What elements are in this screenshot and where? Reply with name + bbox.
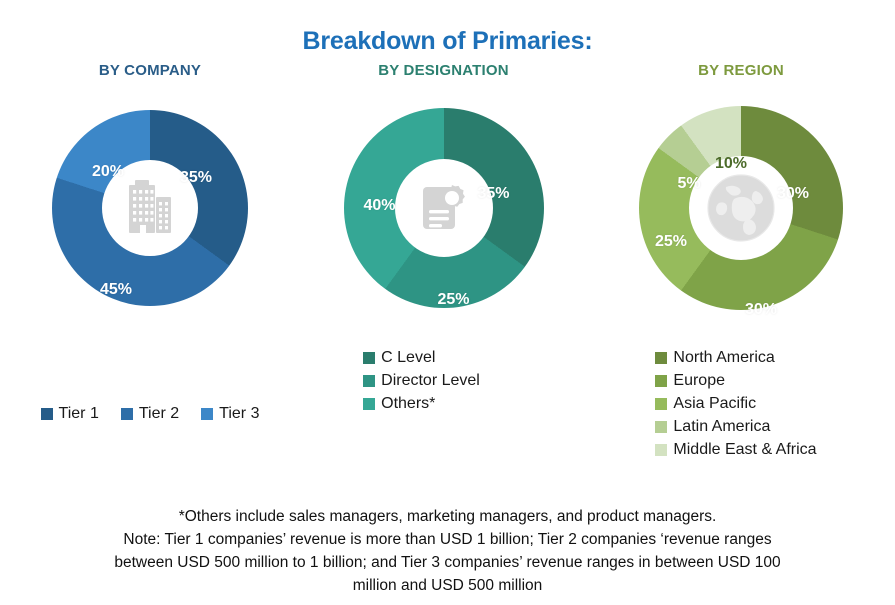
chart-subtitle-by-company: BY COMPANY [99, 60, 201, 82]
slice-value-others: 40% [363, 197, 395, 215]
legend-swatch-others [363, 398, 375, 410]
legend-swatch-tier-1 [41, 408, 53, 420]
slice-value-c-level: 35% [477, 185, 509, 203]
legend-label-north-america: North America [673, 346, 774, 369]
legend-item-c-level[interactable]: C Level [363, 346, 480, 369]
slice-value-latin-america: 5% [677, 175, 700, 193]
chart-panel-by-region: BY REGION [587, 60, 895, 480]
charts-row: BY COMPANY [0, 60, 895, 480]
slice-value-tier-1: 35% [180, 169, 212, 187]
footnote-line-2: Note: Tier 1 companies’ revenue is more … [0, 528, 895, 551]
legend-swatch-latin-america [655, 421, 667, 433]
slice-value-north-america: 30% [777, 185, 809, 203]
legend-label-tier-3: Tier 3 [219, 402, 259, 425]
legend-item-tier-2[interactable]: Tier 2 [121, 402, 179, 425]
legend-swatch-europe [655, 375, 667, 387]
legend-swatch-tier-2 [121, 408, 133, 420]
legend-swatch-director-level [363, 375, 375, 387]
legend-label-others: Others* [381, 392, 435, 415]
legend-by-designation: C Level Director Level Others* [363, 346, 480, 415]
legend-label-director-level: Director Level [381, 369, 480, 392]
legend-by-company: Tier 1 Tier 2 Tier 3 [41, 402, 260, 425]
donut-chart-by-designation: 35% 25% 40% [344, 108, 544, 308]
legend-item-latin-america[interactable]: Latin America [655, 415, 816, 438]
legend-label-latin-america: Latin America [673, 415, 770, 438]
slice-value-director-level: 25% [437, 291, 469, 309]
legend-by-region: North America Europe Asia Pacific Latin … [655, 346, 816, 461]
legend-item-middle-east-africa[interactable]: Middle East & Africa [655, 438, 816, 461]
slice-value-tier-2: 45% [100, 281, 132, 299]
legend-item-europe[interactable]: Europe [655, 369, 816, 392]
certificate-document-icon [417, 180, 471, 236]
legend-item-asia-pacific[interactable]: Asia Pacific [655, 392, 816, 415]
legend-label-middle-east-africa: Middle East & Africa [673, 438, 816, 461]
legend-label-asia-pacific: Asia Pacific [673, 392, 756, 415]
slice-value-europe: 30% [745, 301, 777, 319]
slice-value-asia-pacific: 25% [655, 233, 687, 251]
footnotes: *Others include sales managers, marketin… [0, 505, 895, 597]
donut-chart-by-region: 30% 30% 25% 5% 10% [639, 106, 843, 310]
chart-subtitle-by-region: BY REGION [698, 60, 784, 82]
office-buildings-icon [125, 179, 175, 237]
chart-subtitle-by-designation: BY DESIGNATION [378, 60, 509, 82]
chart-panel-by-designation: BY DESIGNATION [300, 60, 587, 480]
slice-value-tier-3: 20% [92, 163, 124, 181]
legend-item-director-level[interactable]: Director Level [363, 369, 480, 392]
legend-item-tier-3[interactable]: Tier 3 [201, 402, 259, 425]
page-title: Breakdown of Primaries: [0, 27, 895, 56]
legend-label-c-level: C Level [381, 346, 435, 369]
donut-ring-by-region [639, 106, 843, 310]
donut-ring-by-company [52, 110, 248, 306]
donut-chart-by-company: 35% 45% 20% [52, 110, 248, 306]
legend-label-tier-1: Tier 1 [59, 402, 99, 425]
legend-label-tier-2: Tier 2 [139, 402, 179, 425]
legend-swatch-asia-pacific [655, 398, 667, 410]
legend-swatch-north-america [655, 352, 667, 364]
legend-swatch-middle-east-africa [655, 444, 667, 456]
legend-item-north-america[interactable]: North America [655, 346, 816, 369]
footnote-line-3: between USD 500 million to 1 billion; an… [0, 551, 895, 574]
infographic-page: Breakdown of Primaries: BY COMPANY [0, 0, 895, 605]
legend-swatch-c-level [363, 352, 375, 364]
legend-item-tier-1[interactable]: Tier 1 [41, 402, 99, 425]
legend-label-europe: Europe [673, 369, 725, 392]
globe-icon [704, 171, 778, 245]
chart-panel-by-company: BY COMPANY [0, 60, 300, 480]
footnote-line-1: *Others include sales managers, marketin… [0, 505, 895, 528]
footnote-line-4: million and USD 500 million [0, 574, 895, 597]
slice-value-middle-east-africa: 10% [715, 155, 747, 173]
legend-swatch-tier-3 [201, 408, 213, 420]
donut-center-by-designation [395, 159, 493, 257]
legend-item-others[interactable]: Others* [363, 392, 480, 415]
